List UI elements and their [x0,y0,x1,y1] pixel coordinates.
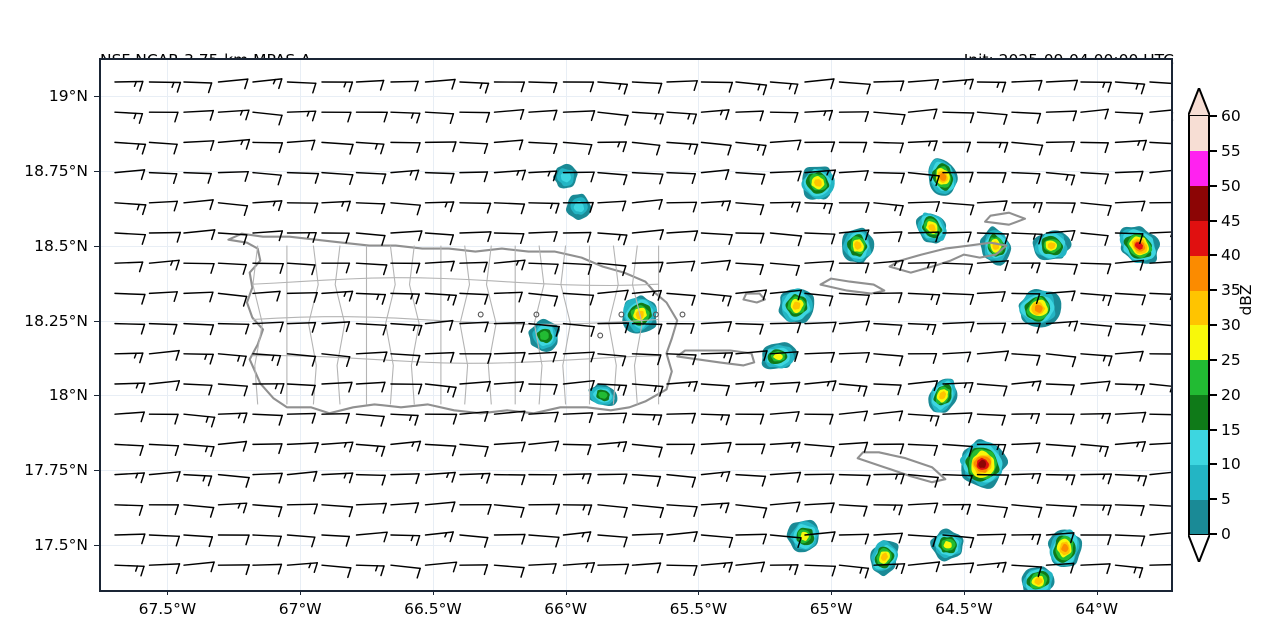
wind-barb [150,564,180,574]
wind-barb-flag [899,325,902,335]
wind-barb-flag [1141,385,1144,395]
wind-barb [702,472,730,482]
wind-barb-flag [314,472,317,482]
wind-barb-flag [312,140,315,150]
wind-barb-flag [522,535,525,545]
wind-barb-flag [554,296,557,306]
wind-barb-flag [865,171,868,181]
wind-barb-shaft [598,354,626,356]
wind-barb-flag [417,143,420,153]
wind-barb-flag [212,417,215,427]
wind-barb [460,322,488,332]
wind-barb-flag [522,442,525,452]
wind-barb [288,443,319,453]
wind-barb-flag [660,508,663,518]
wind-barb-shaft [598,442,626,445]
wind-barb [184,200,213,210]
wind-barb-flag [830,415,833,425]
colorbar-tick-label: 20 [1221,386,1241,404]
wind-barb [495,110,524,120]
wind-barb [978,323,1006,333]
wind-barb [322,112,351,122]
wind-barb [667,293,695,305]
wind-barb-flag [350,145,353,155]
wind-barb [1012,81,1042,91]
wind-barb [322,442,353,452]
wind-barb-flag [312,357,315,367]
wind-barb [633,200,663,210]
wind-barb-flag [588,474,591,484]
wind-barb-shaft [598,505,627,508]
wind-barb [1047,384,1075,395]
wind-barb [357,81,384,91]
wind-barb-flag [659,324,662,334]
wind-barb [357,173,386,184]
wind-barb-shaft [633,444,663,447]
wind-barb [288,504,318,514]
wind-barb [874,411,902,421]
wind-barb-shaft [322,442,353,444]
colorbar-extend-under-arrow [1188,534,1210,562]
wind-barb-flag [829,111,832,121]
city-marker [598,333,603,338]
y-axis-tick-label: 18.75°N [24,162,88,180]
wind-barb-flag [692,296,695,306]
wind-barb-shaft [357,142,384,144]
wind-barb-flag [383,174,386,184]
wind-barb-half-flag [410,415,412,420]
wind-barb-flag [694,382,697,392]
colorbar-tick-label: 55 [1221,142,1241,160]
wind-barb-half-flag [203,476,205,481]
wind-barb [736,475,765,486]
wind-barb-flag [1105,447,1108,457]
wind-barb-flag [177,233,180,243]
wind-barb [184,505,214,517]
wind-barb [978,414,1006,425]
wind-barb-flag [450,235,453,245]
wind-barb-flag [143,205,146,215]
wind-barb-shaft [391,203,420,205]
wind-barb-flag [762,476,765,486]
wind-barb [909,354,937,364]
wind-barb-shaft [564,563,595,565]
wind-barb [736,233,764,243]
wind-barb [702,535,733,547]
wind-barb [495,353,525,363]
wind-barb [288,173,319,184]
colorbar-band [1190,430,1208,465]
wind-barb-shaft [460,172,487,173]
wind-barb [288,472,317,482]
wind-barb-flag [1142,84,1145,94]
wind-barb [667,142,698,154]
wind-barb [667,532,697,542]
wind-barb-shaft [805,503,834,505]
wind-barb [150,112,178,122]
wind-barb-flag [521,82,524,92]
wind-barb [633,444,663,457]
wind-barb-shaft [357,293,386,294]
wind-barb [219,110,249,120]
wind-barb-shaft [1012,293,1040,294]
wind-barb-shaft [184,200,213,203]
wind-barb [1116,384,1145,394]
wind-barb-shaft [219,413,247,414]
wind-barb [184,414,215,427]
wind-barb [322,263,349,273]
wind-barb-shaft [564,142,592,144]
city-marker [478,312,483,317]
wind-barb [322,82,352,92]
wind-barb-half-flag [137,205,139,210]
wind-barb-shaft [736,233,764,234]
wind-barb-flag [969,264,972,274]
wind-barb [736,444,765,454]
anegada-coastline [985,213,1025,225]
y-axis-tick [94,96,99,97]
wind-barb-flag [726,415,729,425]
wind-barb-shaft [357,444,385,446]
wind-barb-shaft [184,263,214,264]
wind-barb [115,383,145,393]
colorbar-tick [1210,220,1217,222]
wind-barb-flag [623,356,626,366]
wind-barb [1047,142,1075,152]
wind-barb-flag [1141,506,1144,516]
wind-barb-shaft [115,142,145,144]
wind-barb-shaft [288,472,317,475]
wind-barb-flag [140,446,143,456]
wind-barb-shaft [736,111,763,112]
wind-barb-shaft [495,170,526,172]
wind-barb-flag [522,353,525,363]
wind-barb-shaft [771,473,801,475]
wind-barb [840,293,870,304]
wind-barb-flag [900,356,903,366]
wind-barb-shaft [1150,532,1171,535]
wind-barb-flag [591,352,594,362]
wind-barb [840,112,869,122]
wind-barb-shaft [909,324,936,325]
wind-barb [1081,564,1110,574]
wind-barb-flag [486,113,489,123]
wind-barb-shaft [529,110,557,112]
wind-barb-half-flag [931,416,933,421]
wind-barb-flag [901,474,904,484]
wind-barb-flag [797,502,800,512]
wind-barb-shaft [1150,324,1171,327]
wind-barb-flag [831,474,834,484]
wind-barb [702,563,733,573]
wind-barb-shaft [978,414,1006,415]
colorbar-tick [1210,289,1217,291]
municipality-border [460,246,470,405]
wind-barb [495,565,525,577]
wind-barb-shaft [253,535,281,536]
wind-barb [495,203,525,214]
wind-barb [460,232,491,242]
wind-barb [391,535,420,545]
wind-barb-flag [519,292,522,302]
wind-barb-half-flag [723,296,725,301]
wind-barb-flag [142,144,145,154]
wind-barb [1116,475,1147,486]
wind-barb-shaft [115,170,145,173]
wind-barb-flag [864,443,867,453]
wind-barb-flag [279,444,282,454]
wind-barb-flag [1037,114,1040,124]
wind-barb [219,384,248,396]
wind-barb-shaft [1081,444,1108,446]
wind-barb-flag [555,264,558,274]
wind-barb-shaft [288,563,318,565]
wind-barb-shaft [322,173,353,175]
wind-barb-shaft [736,534,766,535]
wind-barb [667,382,697,392]
wind-barb-shaft [1116,201,1145,203]
wind-barb-flag [452,473,455,483]
wind-barb-flag [866,295,869,305]
wind-barb [805,233,835,244]
wind-barb-shaft [357,475,386,476]
wind-barb [150,444,179,455]
wind-barb [1081,505,1111,515]
wind-barb-shaft [1012,112,1040,113]
wind-barb-shaft [253,444,282,445]
wind-barb-flag [486,83,489,93]
wind-barb [1012,263,1040,273]
wind-barb [322,414,349,424]
wind-barb-flag [864,507,867,517]
wind-barb-shaft [1150,564,1171,565]
wind-barb-flag [760,325,763,335]
wind-barb [288,82,316,93]
wind-barb-shaft [805,565,835,566]
wind-barb [736,505,767,518]
wind-barb-shaft [150,324,177,325]
wind-barb [702,82,733,92]
wind-barb-flag [590,82,593,92]
wind-barb-shaft [1081,233,1108,236]
wind-barb-shaft [667,112,696,114]
wind-barb-flag [970,563,973,573]
wind-barb-shaft [115,444,143,445]
wind-barb-shaft [1150,505,1171,507]
reflectivity-cell [916,213,947,244]
wind-barb-flag [1142,536,1145,546]
wind-barb [667,231,697,241]
wind-barb-flag [971,538,974,548]
municipality-border [386,246,396,405]
wind-barb [219,203,248,216]
wind-barb [322,535,349,546]
wind-barb-flag [280,264,283,274]
wind-barb-shaft [1047,80,1078,82]
wind-barb [1012,443,1040,453]
wind-barb-shaft [1150,170,1171,173]
wind-barb-shaft [702,535,733,538]
wind-barb-flag [624,537,627,547]
wind-barb [667,81,697,91]
wind-barb-shaft [495,442,526,444]
y-axis-tick [94,395,99,396]
wind-barb-flag [692,414,695,424]
wind-barb-shaft [184,444,214,446]
colorbar-tick-label: 45 [1221,212,1241,230]
wind-barb-shaft [633,262,663,263]
y-axis-tick [94,545,99,546]
wind-barb [219,293,247,306]
wind-barb-shaft [150,173,177,174]
wind-barb [805,111,832,121]
wind-barb [1081,293,1111,305]
wind-barb-shaft [357,263,387,265]
wind-barb [1012,203,1042,213]
wind-barb [943,322,974,332]
wind-barb [219,324,249,334]
wind-barb-shaft [702,293,732,296]
wind-barb [1081,354,1112,366]
wind-barb [564,563,595,573]
wind-barb [391,263,420,273]
wind-barb-flag [1108,264,1111,274]
wind-barb [736,111,763,121]
wind-barb-shaft [978,201,1007,203]
wind-barb-flag [450,114,453,124]
y-axis-tick-label: 18°N [49,386,88,404]
wind-barb-flag [245,79,248,89]
wind-barb [840,443,868,453]
wind-barb [1081,324,1111,336]
x-axis-tick [167,590,168,595]
wind-barb-flag [901,173,904,183]
wind-barb-flag [967,505,970,514]
wind-barb-shaft [288,111,316,112]
wind-barb-flag [348,568,351,578]
wind-barb-shaft [805,233,835,234]
wind-barb-half-flag [1103,505,1105,510]
wind-barb [667,261,695,271]
wind-barb-flag [588,532,591,542]
wind-barb-flag [451,261,454,271]
wind-barb-flag [795,565,798,575]
wind-barb-shaft [1081,263,1111,264]
wind-barb-shaft [874,142,903,143]
wind-barb-shaft [702,353,733,354]
wind-barb-shaft [909,503,938,505]
wind-barb-shaft [357,352,387,354]
wind-barb-flag [522,170,525,180]
wind-barb-flag [1039,81,1042,91]
wind-barb-half-flag [238,356,240,361]
y-axis-tick [94,470,99,471]
wind-barb-shaft [1012,474,1041,475]
wind-barb [771,502,800,512]
wind-barb-half-flag [688,114,690,119]
wind-barb [219,475,250,488]
wind-barb-flag [968,232,971,242]
wind-barb-flag [176,536,179,546]
wind-barb [357,444,385,456]
wind-barb [771,233,802,246]
wind-barb-shaft [1150,142,1171,144]
wind-barb-flag [1142,201,1145,211]
colorbar-gradient [1188,116,1210,534]
wind-barb-flag [142,170,145,180]
wind-barb-flag [728,322,731,332]
wind-barb-shaft [1047,444,1076,446]
wind-barb-shaft [805,353,834,354]
wind-barb-flag [867,84,870,94]
wind-barb-flag [312,414,315,424]
wind-barb-flag [625,116,628,126]
wind-barb [460,112,489,122]
wind-barb-shaft [633,173,663,175]
wind-barb [633,142,660,154]
wind-barb [426,80,456,90]
wind-barb [115,233,145,244]
wind-barb-flag [142,295,145,305]
wind-barb [426,202,454,212]
wind-barb-flag [971,205,974,215]
wind-barb-shaft [322,291,353,293]
wind-barb-flag [1073,111,1076,121]
wind-barb-shaft [736,173,765,175]
wind-barb-flag [348,112,351,122]
wind-barb-flag [279,201,282,211]
wind-barb [529,412,558,422]
wind-barb-half-flag [137,144,139,149]
wind-barb [564,474,591,484]
wind-barb-shaft [909,414,939,416]
wind-barb-half-flag [448,387,450,393]
wind-barb-shaft [322,565,351,568]
wind-barb [1012,142,1043,154]
wind-barb [840,353,870,363]
wind-barb-flag [142,324,145,334]
wind-barb [219,354,247,366]
wind-barb [115,353,143,363]
x-axis-tick-label: 64.5°W [935,600,993,618]
wind-barb-shaft [150,260,180,263]
wind-barb [184,535,212,546]
wind-barb [219,503,247,513]
wind-barb-flag [453,446,456,456]
wind-barb [633,173,663,184]
wind-barb-shaft [1150,443,1171,445]
wind-barb-shaft [736,505,767,508]
wind-barb [1081,142,1108,152]
wind-barb [115,324,145,334]
wind-barb-shaft [667,261,695,263]
wind-barb-flag [520,140,523,150]
wind-barb [322,382,352,392]
wind-barb-flag [830,261,833,271]
st-thomas-coastline [821,279,885,294]
wind-barb [667,202,696,212]
wind-barb-flag [142,383,145,393]
colorbar-band [1190,395,1208,430]
colorbar-band [1190,360,1208,395]
wind-barb-shaft [667,354,696,355]
wind-barb [840,565,869,578]
wind-barb-flag [1004,508,1007,518]
wind-barb [1047,354,1076,367]
wind-barb [840,534,869,544]
wind-barb [219,442,247,452]
wind-barb [874,112,905,124]
